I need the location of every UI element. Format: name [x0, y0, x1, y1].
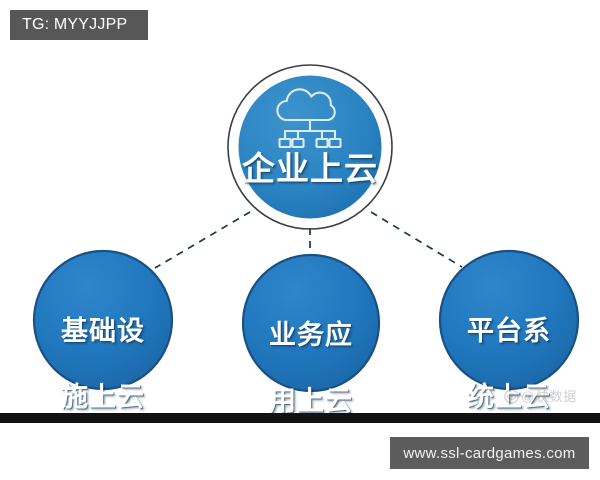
site-url-watermark-badge: www.ssl-cardgames.com [390, 437, 589, 469]
bottom-divider-bar [0, 413, 600, 423]
spoke-node-platform-systems[interactable] [440, 251, 578, 389]
spoke-left-fill [34, 251, 172, 389]
image-canvas: 企业上云 基础设 施上云 业务应 用上云 平台系 统上云 @ 快数据 TG: M… [0, 0, 600, 480]
cloud-adoption-diagram [0, 0, 600, 480]
spoke-node-infrastructure[interactable] [34, 251, 172, 389]
telegram-watermark-badge: TG: MYYJJPP [10, 10, 148, 40]
spoke-right-fill [440, 251, 578, 389]
spoke-node-business-apps[interactable] [243, 255, 379, 391]
hub-node[interactable] [228, 65, 392, 229]
connector-hub-to-left [155, 212, 250, 268]
connector-hub-to-right [371, 212, 462, 267]
spoke-middle-fill [243, 255, 379, 391]
hub-fill [239, 76, 382, 219]
